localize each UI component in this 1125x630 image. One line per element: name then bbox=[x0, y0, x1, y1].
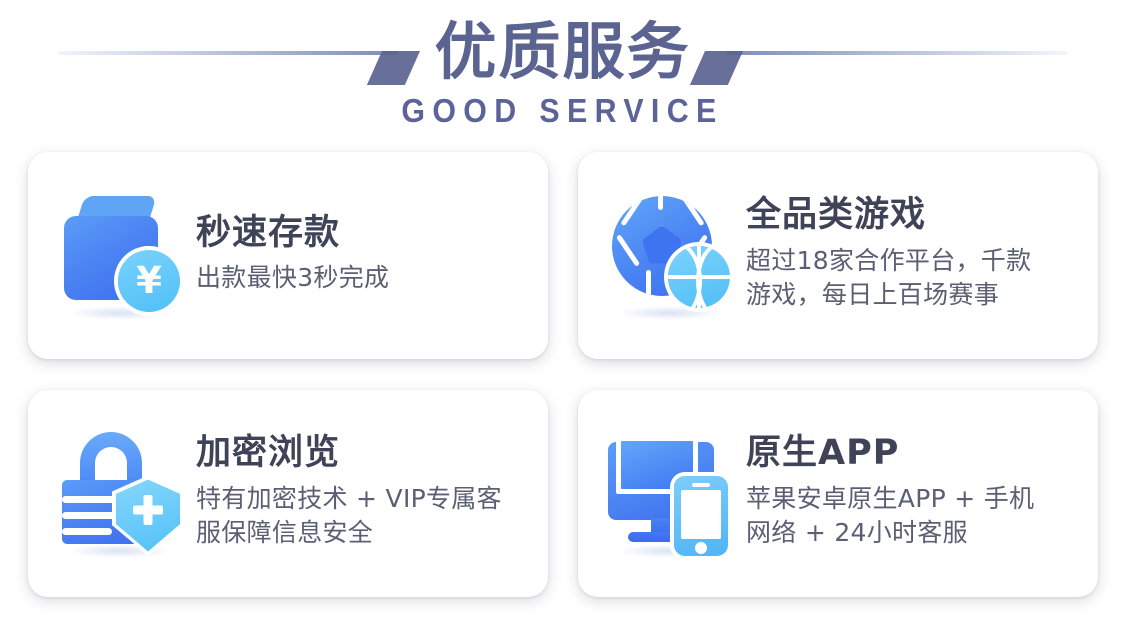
soccer-ball-icon bbox=[604, 188, 740, 324]
feature-card-encryption[interactable]: 加密浏览 特有加密技术 + VIP专属客 服保障信息安全 bbox=[28, 390, 548, 597]
card-title: 原生APP bbox=[746, 434, 1078, 473]
card-description-line2: 服保障信息安全 bbox=[196, 516, 528, 551]
page-subtitle: GOOD SERVICE bbox=[45, 94, 1080, 127]
title-row: 优质服务 bbox=[0, 14, 1125, 90]
card-title: 全品类游戏 bbox=[746, 196, 1078, 235]
lock-slit bbox=[62, 528, 112, 535]
soccer-seam bbox=[658, 196, 663, 210]
feature-card-native-app[interactable]: 原生APP 苹果安卓原生APP + 手机 网络 + 24小时客服 bbox=[578, 390, 1098, 597]
card-description-line2: 游戏，每日上百场赛事 bbox=[746, 278, 1078, 313]
card-title: 秒速存款 bbox=[196, 214, 528, 253]
card-description: 超过18家合作平台，千款 游戏，每日上百场赛事 bbox=[746, 244, 1078, 313]
phone-speaker bbox=[692, 483, 710, 487]
soccer-seam bbox=[620, 196, 644, 226]
feature-card-deposit[interactable]: ¥ 秒速存款 出款最快3秒完成 bbox=[28, 152, 548, 359]
feature-card-text: 原生APP 苹果安卓原生APP + 手机 网络 + 24小时客服 bbox=[746, 434, 1078, 552]
feature-card-games[interactable]: 全品类游戏 超过18家合作平台，千款 游戏，每日上百场赛事 bbox=[578, 152, 1098, 359]
feature-card-grid: ¥ 秒速存款 出款最快3秒完成 bbox=[28, 152, 1098, 597]
feature-card-text: 加密浏览 特有加密技术 + VIP专属客 服保障信息安全 bbox=[196, 434, 528, 552]
icon-shadow bbox=[618, 306, 722, 320]
soccer-seam bbox=[680, 196, 704, 226]
page-title: 优质服务 bbox=[422, 21, 702, 83]
phone-home-button bbox=[695, 542, 707, 554]
decoration-left-icon bbox=[52, 29, 422, 75]
card-description: 出款最快3秒完成 bbox=[196, 261, 528, 296]
soccer-seam bbox=[646, 270, 651, 296]
card-description-line1: 超过18家合作平台，千款 bbox=[746, 246, 1031, 275]
card-description: 苹果安卓原生APP + 手机 网络 + 24小时客服 bbox=[746, 482, 1078, 551]
card-description-line1: 特有加密技术 + VIP专属客 bbox=[196, 484, 502, 513]
card-description-line1: 苹果安卓原生APP + 手机 bbox=[746, 484, 1034, 513]
soccer-seam bbox=[616, 234, 640, 267]
decoration-right-bar bbox=[727, 51, 1067, 55]
card-description-line1: 出款最快3秒完成 bbox=[196, 263, 389, 292]
phone-screen bbox=[681, 490, 721, 539]
card-description-line2: 网络 + 24小时客服 bbox=[746, 516, 1078, 551]
feature-card-text: 秒速存款 出款最快3秒完成 bbox=[196, 214, 528, 298]
wallet-icon: ¥ bbox=[54, 188, 190, 324]
basketball-icon bbox=[668, 246, 730, 308]
card-title: 加密浏览 bbox=[196, 434, 528, 473]
decoration-left-slab bbox=[367, 51, 420, 85]
promo-banner: 优质服务 GOOD SERVICE ¥ 秒速存款 出款最快3秒完成 bbox=[0, 0, 1125, 630]
mobile-phone-icon bbox=[674, 476, 728, 556]
monitor-icon bbox=[604, 426, 740, 562]
yen-coin-icon: ¥ bbox=[118, 250, 180, 312]
decoration-right-icon bbox=[703, 29, 1073, 75]
decoration-left-bar bbox=[58, 51, 398, 55]
feature-card-text: 全品类游戏 超过18家合作平台，千款 游戏，每日上百场赛事 bbox=[746, 196, 1078, 314]
card-description: 特有加密技术 + VIP专属客 服保障信息安全 bbox=[196, 482, 528, 551]
lock-icon bbox=[54, 426, 190, 562]
basketball-seam-right bbox=[696, 246, 730, 308]
banner-header: 优质服务 GOOD SERVICE bbox=[0, 0, 1125, 146]
